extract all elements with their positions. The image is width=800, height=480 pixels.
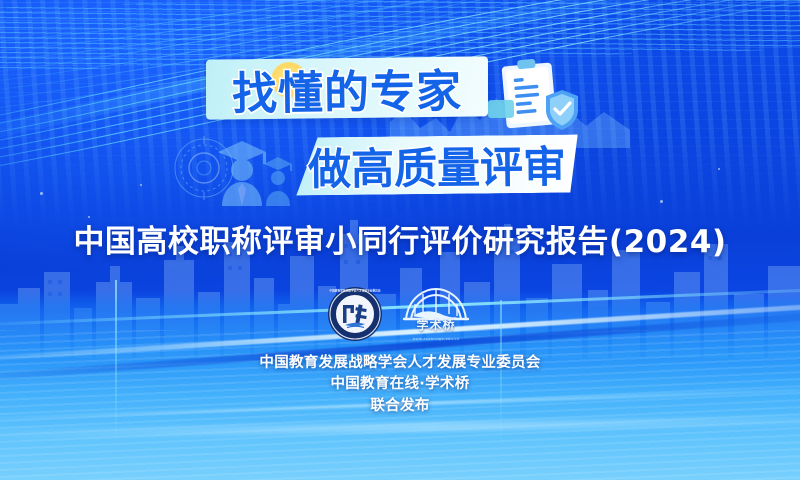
sparkle: [660, 200, 663, 203]
acabridge-label: 学术桥: [399, 316, 473, 333]
logo-row: 中国教育发展战略学会人才发展专业委员会 学术: [0, 283, 800, 345]
sparkle: [718, 168, 720, 170]
graduate-figures-icon: [206, 134, 298, 206]
headline-line-2-text: 做高质量评审: [308, 133, 567, 198]
banner-tab-accent: [488, 100, 514, 118]
publisher-block: 中国教育发展战略学会人才发展专业委员会 中国教育在线·学术桥 联合发布: [0, 353, 800, 417]
headline-line-1-text: 找懂的专家: [232, 54, 463, 122]
acabridge-url: www.acabridge.edu.cn: [399, 337, 473, 341]
clipboard-shield-icon: [498, 58, 584, 134]
sparkle: [140, 184, 142, 186]
publisher-line-2: 中国教育在线·学术桥: [0, 374, 800, 395]
sparkle: [40, 192, 43, 195]
svg-text:中国教育发展战略学会人才发展专业委员会: 中国教育发展战略学会人才发展专业委员会: [329, 289, 380, 293]
poster-canvas: 找懂的专家 做高质量评审 中国高校职称评审小同行评价研究报告(2024): [0, 0, 800, 480]
seal-emblem-logo: 中国教育发展战略学会人才发展专业委员会: [327, 286, 383, 342]
publisher-line-1: 中国教育发展战略学会人才发展专业委员会: [0, 353, 800, 374]
report-title: 中国高校职称评审小同行评价研究报告(2024): [0, 216, 800, 261]
headline-line-1: 找懂的专家: [206, 56, 489, 119]
acabridge-logo: 学术桥 www.acabridge.edu.cn: [399, 286, 473, 342]
headline-line-2: 做高质量评审: [296, 135, 579, 196]
publisher-line-3: 联合发布: [0, 396, 800, 417]
